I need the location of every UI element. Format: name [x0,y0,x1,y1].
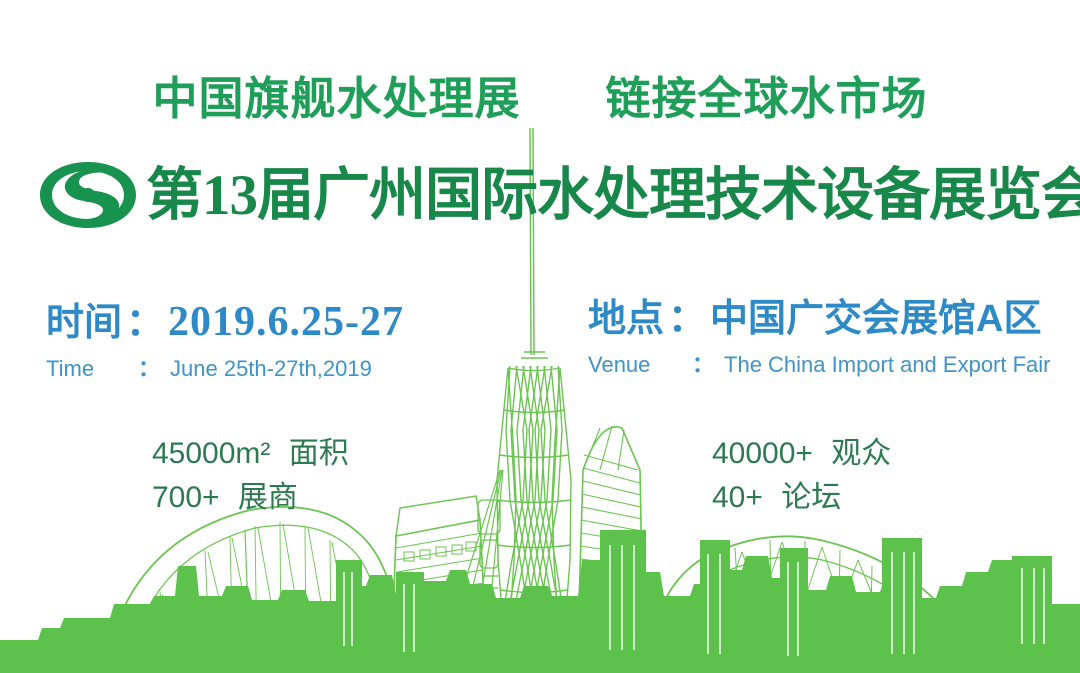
stat-item: 40+ 论坛 [712,476,891,520]
tagline-right: 链接全球水市场 [606,73,928,124]
stats-left: 45000m² 面积 700+ 展商 [152,432,349,519]
stat-item: 40000+ 观众 [712,432,891,476]
venue-block: 地点 ： 中国广交会展馆A区 Venue ： The China Import … [588,300,1051,379]
time-label-cn: 时间 [46,304,122,344]
stat-unit: 面积 [279,437,349,470]
time-value-en: June 25th-27th,2019 [170,356,372,382]
stat-item: 700+ 展商 [152,476,349,520]
water-swirl-logo-icon [36,158,140,232]
venue-label-en: Venue [588,352,692,378]
stat-number: 40000+ [712,437,813,470]
tagline-left: 中国旗舰水处理展 [152,73,520,124]
stat-number: 40+ [712,481,763,514]
poster-banner: 中国旗舰水处理展 链接全球水市场 第13届广州国际水处理技术设备展览会 时间 ：… [0,0,1080,673]
tagline: 中国旗舰水处理展 链接全球水市场 [0,62,1080,127]
venue-separator-cn: ： [664,300,710,340]
time-separator-en: ： [138,351,170,383]
venue-value-en: The China Import and Export Fair [724,352,1050,378]
venue-en-row: Venue ： The China Import and Export Fair [588,347,1051,379]
venue-cn-row: 地点 ： 中国广交会展馆A区 [588,300,1051,340]
stat-item: 45000m² 面积 [152,432,349,476]
stat-unit: 展商 [228,481,298,514]
title-row: 第13届广州国际水处理技术设备展览会 [0,158,1080,232]
time-value-cn: 2019.6.25-27 [168,300,404,344]
venue-label-cn: 地点 [588,300,664,340]
venue-separator-en: ： [692,347,724,379]
stats-right: 40000+ 观众 40+ 论坛 [712,432,891,519]
venue-value-cn: 中国广交会展馆A区 [710,300,1041,340]
page-title: 第13届广州国际水处理技术设备展览会 [146,167,1080,224]
stat-number: 45000m² [152,437,270,470]
time-block: 时间 ： 2019.6.25-27 Time ： June 25th-27th,… [46,300,404,383]
time-separator-cn: ： [122,304,168,344]
stat-unit: 论坛 [771,481,841,514]
time-en-row: Time ： June 25th-27th,2019 [46,351,404,383]
time-cn-row: 时间 ： 2019.6.25-27 [46,300,404,344]
stat-number: 700+ [152,481,220,514]
stat-unit: 观众 [821,437,891,470]
time-label-en: Time [46,356,138,382]
